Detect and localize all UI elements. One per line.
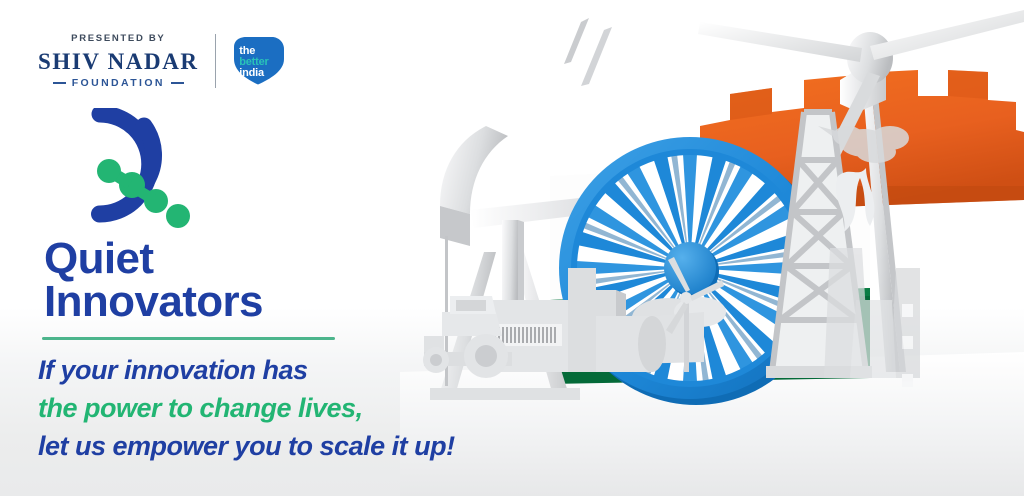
foundation-rule-left [53,82,66,84]
shiv-nadar-name: SHIV NADAR [38,50,199,73]
quiet-innovators-logo-mark [44,108,194,233]
tagline-line-3: let us empower you to scale it up! [38,428,455,466]
q-ring-right [144,126,154,180]
campaign-title-line-1: Quiet [44,237,263,280]
wind-turbine-blades-background [564,18,612,86]
tagline-line-1: If your innovation has [38,352,455,390]
tbi-line-india: india [239,68,279,79]
smokestacks [824,248,920,387]
banner-canvas: PRESENTED BY SHIV NADAR FOUNDATION the b… [0,0,1024,496]
campaign-text-panel: PRESENTED BY SHIV NADAR FOUNDATION the b… [0,0,540,496]
green-divider-rule [42,337,335,340]
shiv-nadar-foundation-logo: PRESENTED BY SHIV NADAR FOUNDATION [38,34,199,88]
campaign-title: Quiet Innovators [44,237,263,323]
foundation-rule-right [171,82,184,84]
lockup-divider [215,34,217,88]
the-better-india-wordmark: the better india [239,46,279,80]
tagline-line-2: the power to change lives, [38,390,455,428]
campaign-tagline: If your innovation has the power to chan… [38,352,455,465]
campaign-title-line-2: Innovators [44,280,263,323]
foundation-row: FOUNDATION [38,78,199,89]
foundation-label: FOUNDATION [72,78,165,89]
the-better-india-logo: the better india [232,37,284,85]
presented-by-eyebrow: PRESENTED BY [38,34,199,44]
presented-by-lockup: PRESENTED BY SHIV NADAR FOUNDATION the b… [38,34,284,88]
